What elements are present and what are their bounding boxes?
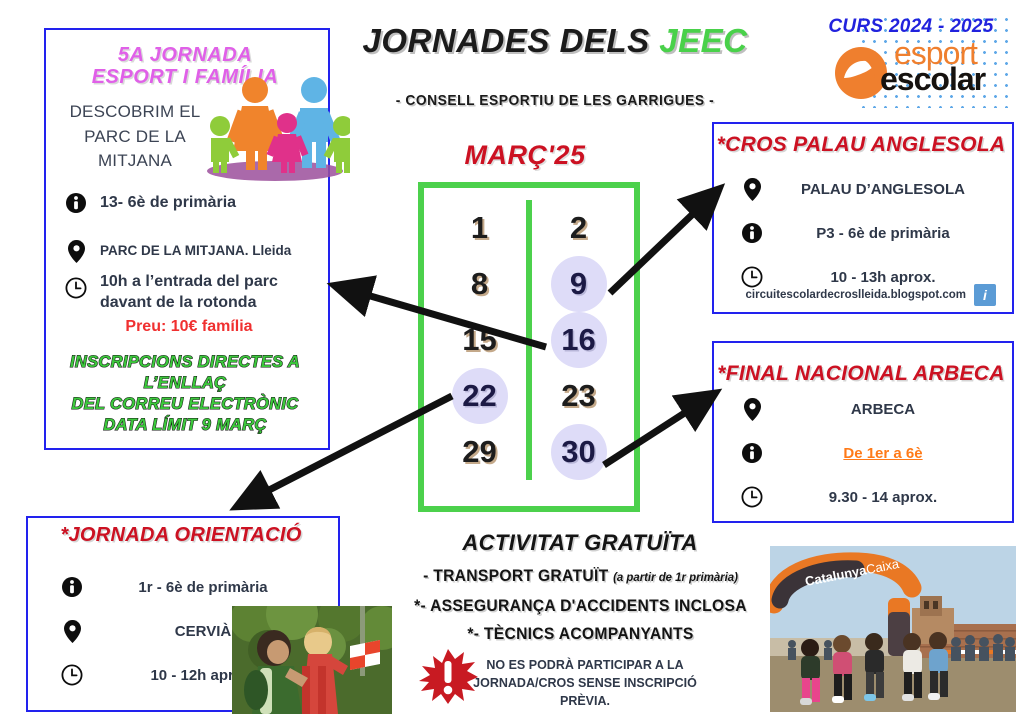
orientacio-audience-row: 1r - 6è de primària xyxy=(60,574,310,600)
calendar-grid: 1 8 15 22 29 2 9 16 23 30 xyxy=(418,182,640,512)
cross-country-race-photo: CatalunyaCaixa xyxy=(770,546,1016,712)
arbeca-title: *FINAL NACIONAL ARBECA xyxy=(712,362,1010,386)
benefit-transport-text: - TRANSPORT GRATUÏT xyxy=(423,567,608,585)
clock-icon xyxy=(60,662,84,688)
info-badge-icon: i xyxy=(974,284,996,306)
calendar-day[interactable]: 2 xyxy=(551,200,607,256)
info-icon xyxy=(60,574,84,600)
page-title-accent: JEEC xyxy=(659,22,747,59)
info-icon xyxy=(740,220,764,246)
orientacio-audience-text: 1r - 6è de primària xyxy=(96,579,310,596)
arbeca-detail-list: ARBECA De 1er a 6è 9.30 - 14 aprox. xyxy=(740,396,990,510)
familia-signup-note: INSCRIPCIONS DIRECTES A L’ENLLAÇ DEL COR… xyxy=(52,352,318,436)
warning-burst-icon xyxy=(418,648,478,706)
calendar-column-divider xyxy=(526,200,532,480)
arbeca-time-row: 9.30 - 14 aprox. xyxy=(740,484,990,510)
free-activity-heading: ACTIVITAT GRATUÏTA xyxy=(400,530,760,556)
page-title: JORNADES DELS JEEC xyxy=(355,22,755,60)
logo-block: CURS 2024 - 2025 esport escolar xyxy=(806,14,1016,108)
calendar-day[interactable]: 23 xyxy=(551,368,607,424)
warning-note-text: NO ES PODRÀ PARTICIPAR A LA JORNADA/CROS… xyxy=(470,656,700,710)
arbeca-place-row: ARBECA xyxy=(740,396,990,422)
benefit-insurance: *- ASSEGURANÇA D'ACCIDENTS INCLOSA xyxy=(407,597,754,616)
calendar-column-left: 1 8 15 22 29 xyxy=(430,194,529,500)
benefit-transport-note: (a partir de 1r primària) xyxy=(613,570,738,584)
poster-canvas: JORNADES DELS JEEC - CONSELL ESPORTIU DE… xyxy=(0,0,1024,725)
calendar-column-right: 2 9 16 23 30 xyxy=(529,194,628,500)
orientacio-title: *JORNADA ORIENTACIÓ xyxy=(26,524,336,547)
location-pin-icon xyxy=(64,238,88,264)
arbeca-audience-row: De 1er a 6è xyxy=(740,440,990,466)
calendar-day[interactable]: 8 xyxy=(452,256,508,312)
arbeca-place-text: ARBECA xyxy=(776,401,990,418)
page-title-main: JORNADES DELS xyxy=(363,22,660,59)
clock-icon xyxy=(64,275,88,301)
location-pin-icon xyxy=(740,176,764,202)
location-pin-icon xyxy=(60,618,84,644)
signup-line-4: DATA LÍMIT 9 MARÇ xyxy=(52,415,318,436)
benefit-coaches: *- TÈCNICS ACOMPANYANTS xyxy=(407,625,754,644)
signup-line-3: DEL CORREU ELECTRÒNIC xyxy=(52,394,318,415)
familia-time-text: 10h a l’entrada del parc davant de la ro… xyxy=(100,272,324,314)
logo-word-escolar: escolar xyxy=(880,66,985,92)
cros-title: *CROS PALAU ANGLESOLA xyxy=(712,133,1010,157)
clock-icon xyxy=(740,484,764,510)
orienteering-photo xyxy=(232,606,392,714)
calendar-day-highlighted[interactable]: 22 xyxy=(452,368,508,424)
familia-audience-row: 13- 6è de primària xyxy=(64,190,314,216)
calendar-day-highlighted[interactable]: 30 xyxy=(551,424,607,480)
familia-description: DESCOBRIM EL PARC DE LA MITJANA xyxy=(60,100,210,174)
cros-audience-row: P3 - 6è de primària xyxy=(740,220,990,246)
arbeca-audience-text[interactable]: De 1er a 6è xyxy=(776,445,990,462)
calendar-day[interactable]: 1 xyxy=(452,200,508,256)
calendar-day[interactable]: 29 xyxy=(452,424,508,480)
familia-price: Preu: 10€ família xyxy=(64,318,314,336)
cros-time-text: 10 - 13h aprox. xyxy=(776,269,990,286)
calendar-day[interactable]: 15 xyxy=(452,312,508,368)
familia-place-row: PARC DE LA MITJANA. Lleida xyxy=(64,238,324,264)
arbeca-time-text: 9.30 - 14 aprox. xyxy=(776,489,990,506)
familia-time-row: 10h a l’entrada del parc davant de la ro… xyxy=(64,272,324,314)
cros-place-text: PALAU D’ANGLESOLA xyxy=(776,181,990,198)
cros-place-row: PALAU D’ANGLESOLA xyxy=(740,176,990,202)
family-illustration-icon xyxy=(200,68,350,183)
page-subtitle: - CONSELL ESPORTIU DE LES GARRIGUES - xyxy=(371,92,739,109)
signup-line-2: L’ENLLAÇ xyxy=(52,373,318,394)
familia-audience-text: 13- 6è de primària xyxy=(100,193,236,214)
cros-audience-text: P3 - 6è de primària xyxy=(776,225,990,242)
logo-wordmark: esport escolar xyxy=(894,40,985,92)
cros-blog-link[interactable]: circuitescolardecroslleida.blogspot.com … xyxy=(726,284,996,306)
signup-line-1: INSCRIPCIONS DIRECTES A xyxy=(52,352,318,373)
info-icon xyxy=(740,440,764,466)
familia-place-text: PARC DE LA MITJANA. Lleida xyxy=(100,242,291,260)
calendar-month-label: MARÇ'25 xyxy=(415,140,635,171)
cros-detail-list: PALAU D’ANGLESOLA P3 - 6è de primària 10… xyxy=(740,176,990,290)
info-icon xyxy=(64,190,88,216)
familia-title-line-1: 5A JORNADA xyxy=(44,44,326,66)
calendar-day-highlighted[interactable]: 9 xyxy=(551,256,607,312)
cros-blog-url-text: circuitescolardecroslleida.blogspot.com xyxy=(746,289,966,301)
calendar-day-highlighted[interactable]: 16 xyxy=(551,312,607,368)
benefit-transport: - TRANSPORT GRATUÏT (a partir de 1r prim… xyxy=(407,567,754,586)
location-pin-icon xyxy=(740,396,764,422)
